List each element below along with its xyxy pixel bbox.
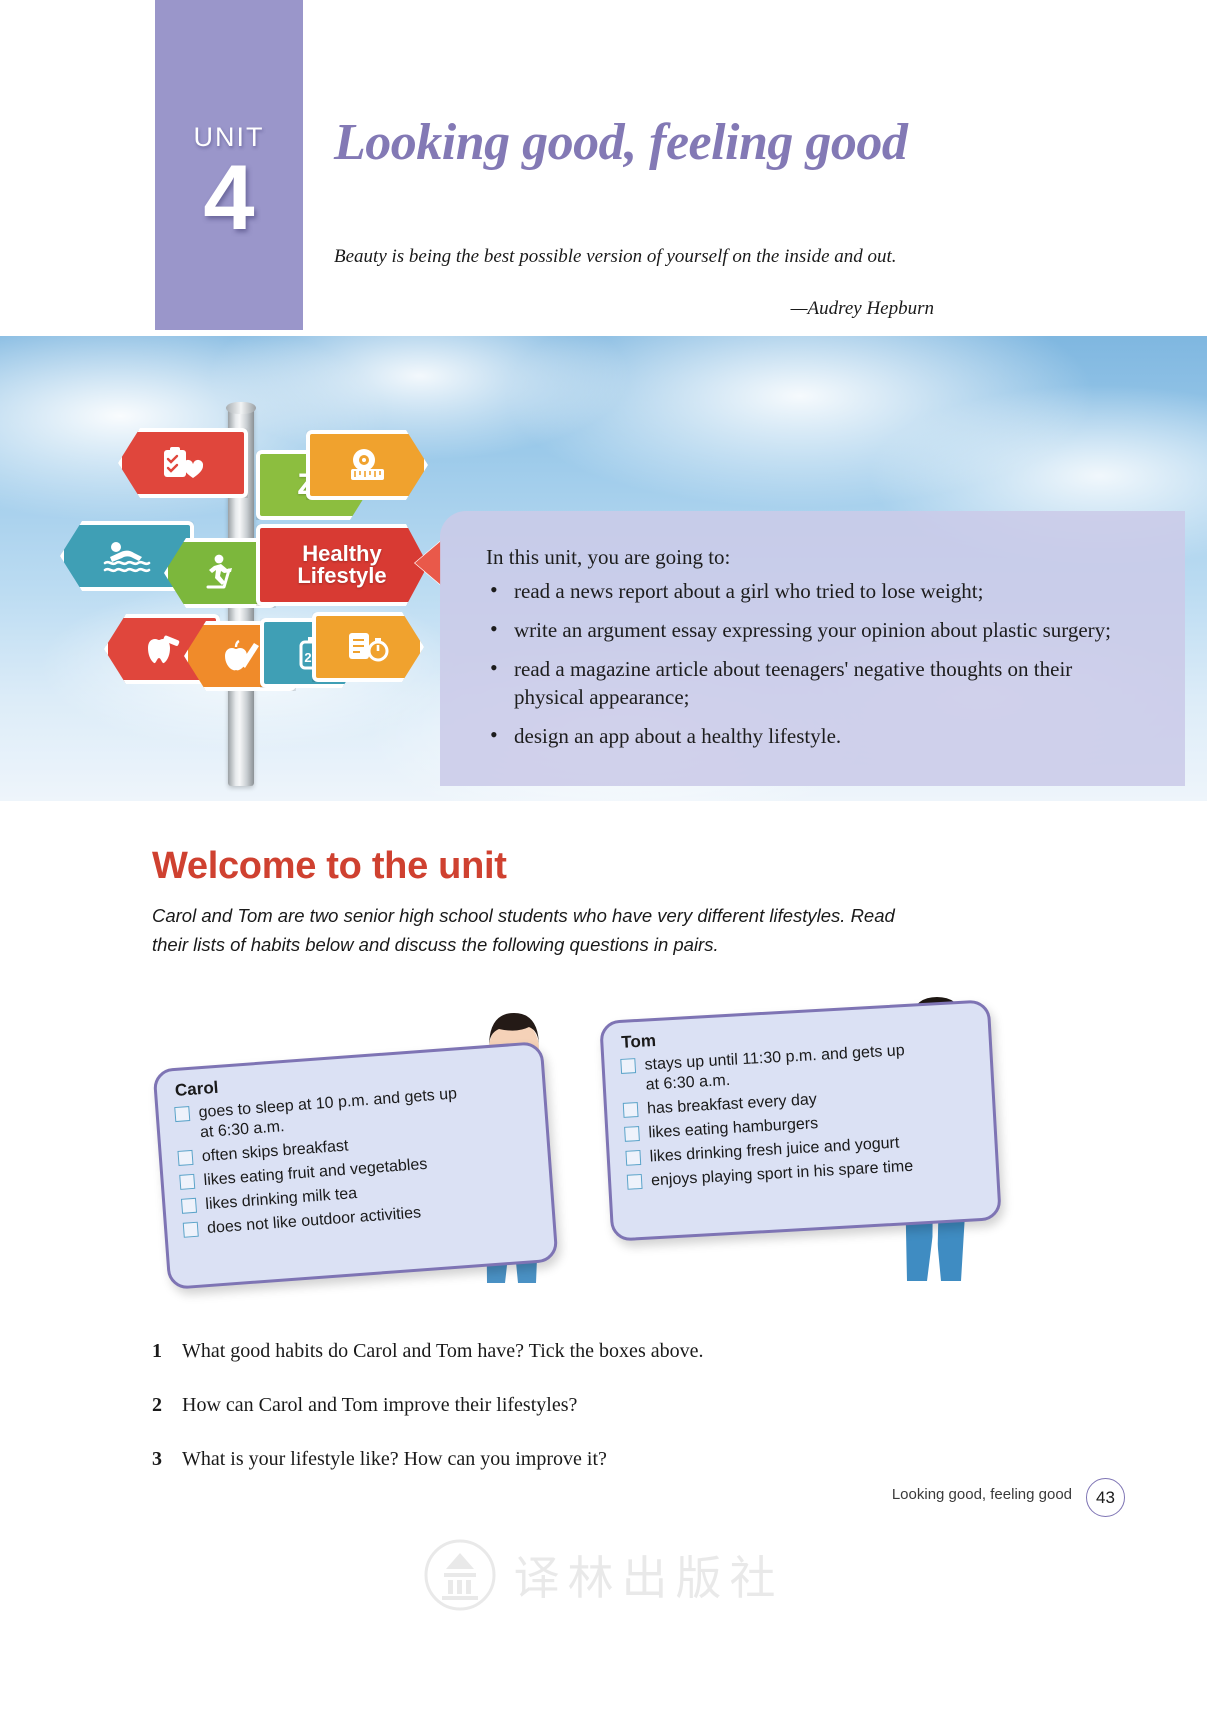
unit-objectives-list: read a news report about a girl who trie… [486, 577, 1116, 761]
habit-list-carol: goes to sleep at 10 p.m. and gets up at … [172, 1083, 481, 1245]
habit-checkbox[interactable] [179, 1174, 195, 1190]
publisher-watermark: 译林出版社 [0, 1520, 1207, 1630]
welcome-intro-text: Carol and Tom are two senior high school… [152, 901, 917, 959]
apple-carrot-icon [219, 640, 261, 672]
healthy-label-line2: Lifestyle [297, 563, 386, 588]
clipboard-stopwatch-icon [347, 630, 389, 664]
card-name-carol: Carol [174, 1078, 219, 1101]
habit-checkbox[interactable] [623, 1102, 639, 1118]
timer-sign [312, 612, 424, 682]
question-row: 1 What good habits do Carol and Tom have… [152, 1340, 1052, 1366]
signpost-pole-cap [226, 402, 256, 414]
callout-arrow-icon [415, 541, 441, 585]
discussion-questions: 1 What good habits do Carol and Tom have… [152, 1340, 1052, 1502]
footer-running-title: Looking good, feeling good [892, 1486, 1072, 1503]
question-text: What is your lifestyle like? How can you… [182, 1448, 607, 1471]
measure-tape-sign [306, 430, 428, 500]
habit-checkbox[interactable] [181, 1198, 197, 1214]
question-text: How can Carol and Tom improve their life… [182, 1394, 577, 1417]
epigraph-quote: Beauty is being the best possible versio… [334, 243, 934, 270]
question-row: 2 How can Carol and Tom improve their li… [152, 1394, 1052, 1420]
habit-text: stays up until 11:30 p.m. and gets up at… [644, 1042, 905, 1093]
unit-banner: Zz [0, 336, 1207, 801]
question-number: 1 [152, 1340, 174, 1363]
page-number-badge: 43 [1086, 1478, 1125, 1517]
page-title: Looking good, feeling good [334, 113, 907, 172]
objective-item: read a news report about a girl who trie… [486, 577, 1116, 605]
publisher-logo-icon [424, 1539, 496, 1611]
habit-checkbox[interactable] [624, 1126, 640, 1142]
question-text: What good habits do Carol and Tom have? … [182, 1340, 703, 1363]
health-check-sign [118, 428, 248, 498]
epigraph-author: —Audrey Hepburn [334, 298, 934, 320]
publisher-name: 译林出版社 [514, 1542, 784, 1608]
unit-objectives-callout: In this unit, you are going to: read a n… [440, 511, 1185, 786]
habit-checkbox[interactable] [174, 1106, 190, 1122]
objective-item: read a magazine article about teenagers'… [486, 655, 1116, 711]
question-number: 3 [152, 1448, 174, 1471]
swimmer-icon [103, 539, 151, 573]
healthy-lifestyle-signpost: Zz [60, 406, 420, 786]
habit-checkbox[interactable] [177, 1150, 193, 1166]
habit-list-tom: stays up until 11:30 p.m. and gets up at… [618, 1040, 925, 1197]
habit-checkbox[interactable] [627, 1174, 643, 1190]
healthy-lifestyle-label: Healthy Lifestyle [297, 543, 386, 587]
unit-number: 4 [155, 148, 303, 248]
habit-checkbox[interactable] [620, 1058, 636, 1074]
objective-item: design an app about a healthy lifestyle. [486, 722, 1116, 750]
habit-checkbox[interactable] [625, 1150, 641, 1166]
page-header: UNIT 4 Looking good, feeling good Beauty… [0, 0, 1207, 336]
healthy-lifestyle-sign: Healthy Lifestyle [256, 524, 428, 606]
question-number: 2 [152, 1394, 174, 1417]
habit-card-tom: Tom stays up until 11:30 p.m. and gets u… [599, 999, 1002, 1241]
question-row: 3 What is your lifestyle like? How can y… [152, 1448, 1052, 1474]
habit-text: likes eating hamburgers [648, 1115, 819, 1141]
toothbrush-tooth-icon [141, 633, 183, 665]
unit-tab: UNIT 4 [155, 0, 303, 330]
habit-checkbox[interactable] [183, 1222, 199, 1238]
card-name-tom: Tom [621, 1031, 657, 1053]
section-heading-welcome: Welcome to the unit [152, 845, 507, 888]
clipboard-heart-icon [161, 446, 205, 480]
habit-text: has breakfast every day [647, 1091, 818, 1117]
objective-item: write an argument essay expressing your … [486, 616, 1116, 644]
callout-intro-text: In this unit, you are going to: [486, 545, 730, 570]
habit-cards-area: Carol goes to sleep at 10 p.m. and gets … [0, 975, 1207, 1315]
treadmill-runner-icon [201, 554, 239, 592]
measuring-tape-icon [347, 447, 387, 483]
habit-card-carol: Carol goes to sleep at 10 p.m. and gets … [152, 1041, 558, 1290]
